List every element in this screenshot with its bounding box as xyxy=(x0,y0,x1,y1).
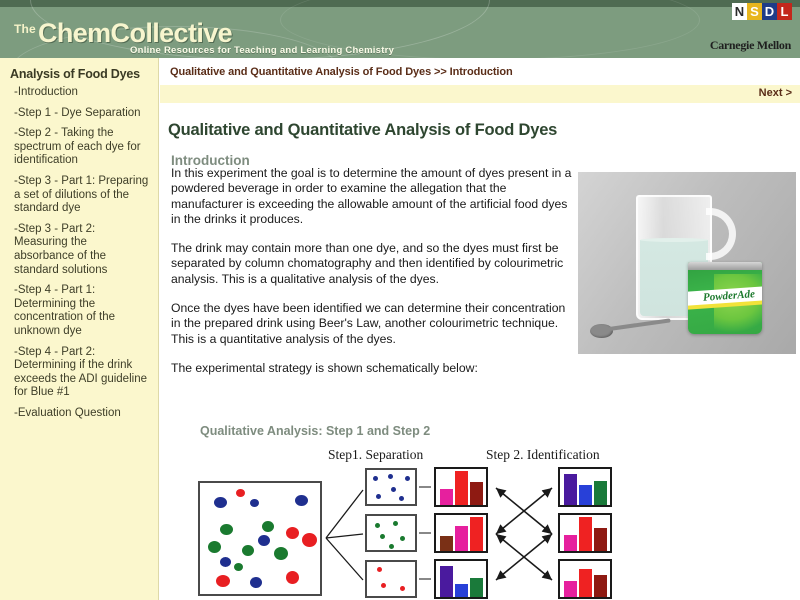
paragraph-3: Once the dyes have been identified we ca… xyxy=(171,301,576,347)
dye-dot-blue xyxy=(391,487,396,492)
beaker-handle xyxy=(706,208,736,260)
dye-blob-green xyxy=(242,545,254,556)
measuring-spoon-handle xyxy=(609,318,671,331)
reference-chart-3 xyxy=(558,559,612,599)
nsdl-letter-l: L xyxy=(777,3,792,20)
paragraph-2: The drink may contain more than one dye,… xyxy=(171,241,576,287)
chart-bar xyxy=(470,517,483,551)
breadcrumb: Qualitative and Quantitative Analysis of… xyxy=(170,66,513,78)
dye-dot-blue xyxy=(376,494,381,499)
header-top-rule xyxy=(0,0,800,7)
intro-prose: In this experiment the goal is to determ… xyxy=(171,166,576,390)
sidebar-item-step3-part1[interactable]: -Step 3 - Part 1: Preparing a set of dil… xyxy=(8,175,150,216)
chart-bar xyxy=(594,575,607,597)
dye-blob-green xyxy=(220,524,233,535)
mixture-sample-box xyxy=(198,481,322,596)
sidebar-item-step4-part2[interactable]: -Step 4 - Part 2: Determining if the dri… xyxy=(8,346,150,400)
powderade-photo: PowderAde xyxy=(578,172,796,354)
chart-bar xyxy=(440,566,453,597)
dye-blob-red xyxy=(286,571,299,584)
powderade-packet: PowderAde xyxy=(688,262,762,334)
chart-bar xyxy=(579,517,592,551)
sidebar-navigation: Analysis of Food Dyes -Introduction -Ste… xyxy=(0,58,159,600)
dye-blob-blue xyxy=(220,557,231,567)
logo-the-text: The xyxy=(14,22,36,36)
chart-bar xyxy=(579,569,592,597)
sidebar-item-introduction[interactable]: -Introduction xyxy=(8,86,150,100)
dye-blob-blue xyxy=(250,499,259,507)
page-title: Qualitative and Quantitative Analysis of… xyxy=(168,121,557,140)
dye-dot-green xyxy=(375,523,380,528)
paragraph-4: The experimental strategy is shown schem… xyxy=(171,361,576,376)
chart-bar xyxy=(470,482,483,505)
dye-blob-red xyxy=(302,533,317,547)
sidebar-title: Analysis of Food Dyes xyxy=(10,67,150,81)
dye-dot-green xyxy=(393,521,398,526)
beaker-liquid-surface xyxy=(640,238,708,242)
chart-bar xyxy=(455,584,468,597)
sidebar-item-step3-part2[interactable]: -Step 3 - Part 2: Measuring the absorban… xyxy=(8,223,150,277)
separated-fraction-box-blue xyxy=(365,468,417,506)
site-header: TheChemCollective Online Resources for T… xyxy=(0,0,800,58)
sidebar-item-step2[interactable]: -Step 2 - Taking the spectrum of each dy… xyxy=(8,127,150,168)
nsdl-letter-d: D xyxy=(762,3,777,20)
dye-blob-green xyxy=(274,547,288,560)
chart-bar xyxy=(594,481,607,505)
dye-blob-blue xyxy=(295,495,308,506)
sidebar-item-evaluation-question[interactable]: -Evaluation Question xyxy=(8,407,150,421)
step1-separation-label: Step1. Separation xyxy=(328,447,423,463)
reference-chart-2 xyxy=(558,513,612,553)
chart-bar xyxy=(564,535,577,551)
dye-blob-blue xyxy=(250,577,262,588)
dye-dot-green xyxy=(389,544,394,549)
spectrum-chart-1 xyxy=(434,467,488,507)
nsdl-letter-s: S xyxy=(747,3,762,20)
dye-dot-red xyxy=(381,583,386,588)
chart-bar xyxy=(470,578,483,597)
dye-dot-blue xyxy=(399,496,404,501)
dye-blob-blue xyxy=(214,497,227,508)
chart-bar xyxy=(564,581,577,597)
chart-bar xyxy=(455,471,468,505)
dye-blob-red xyxy=(236,489,245,497)
paragraph-1: In this experiment the goal is to determ… xyxy=(171,166,576,227)
step2-identification-label: Step 2. Identification xyxy=(486,447,600,463)
next-link[interactable]: Next > xyxy=(759,87,792,99)
dye-blob-red xyxy=(216,575,230,587)
dye-dot-green xyxy=(400,536,405,541)
next-navigation-bar: Next > xyxy=(160,85,800,103)
separated-fraction-box-red xyxy=(365,560,417,598)
spectrum-chart-3 xyxy=(434,559,488,599)
dye-dot-blue xyxy=(373,476,378,481)
site-tagline: Online Resources for Teaching and Learni… xyxy=(130,45,394,56)
experimental-strategy-diagram xyxy=(160,468,800,600)
dye-blob-green xyxy=(208,541,221,553)
chart-bar xyxy=(594,528,607,551)
connector-dash xyxy=(419,532,431,534)
connector-dash xyxy=(419,486,431,488)
dye-blob-blue xyxy=(258,535,270,546)
nsdl-logo[interactable]: N S D L xyxy=(732,3,792,20)
dye-blob-red xyxy=(286,527,299,539)
chart-bar xyxy=(455,526,468,551)
sidebar-item-step1[interactable]: -Step 1 - Dye Separation xyxy=(8,107,150,121)
chart-bar xyxy=(579,485,592,505)
dye-dot-blue xyxy=(405,476,410,481)
packet-foil-top xyxy=(688,262,762,270)
connector-dash xyxy=(419,578,431,580)
carnegie-mellon-logo[interactable]: Carnegie Mellon xyxy=(710,38,791,53)
spectrum-chart-2 xyxy=(434,513,488,553)
dye-dot-blue xyxy=(388,474,393,479)
dye-dot-red xyxy=(377,567,382,572)
main-content: Qualitative and Quantitative Analysis of… xyxy=(160,58,800,600)
chart-bar xyxy=(440,536,453,551)
dye-blob-green xyxy=(262,521,274,532)
dye-dot-green xyxy=(380,534,385,539)
separated-fraction-box-green xyxy=(365,514,417,552)
nsdl-letter-n: N xyxy=(732,3,747,20)
chart-bar xyxy=(440,489,453,505)
chart-bar xyxy=(564,474,577,505)
diagram-heading: Qualitative Analysis: Step 1 and Step 2 xyxy=(200,424,430,438)
dye-blob-green xyxy=(234,563,243,571)
sidebar-item-step4-part1[interactable]: -Step 4 - Part 1: Determining the concen… xyxy=(8,284,150,338)
reference-chart-1 xyxy=(558,467,612,507)
dye-dot-red xyxy=(400,586,405,591)
